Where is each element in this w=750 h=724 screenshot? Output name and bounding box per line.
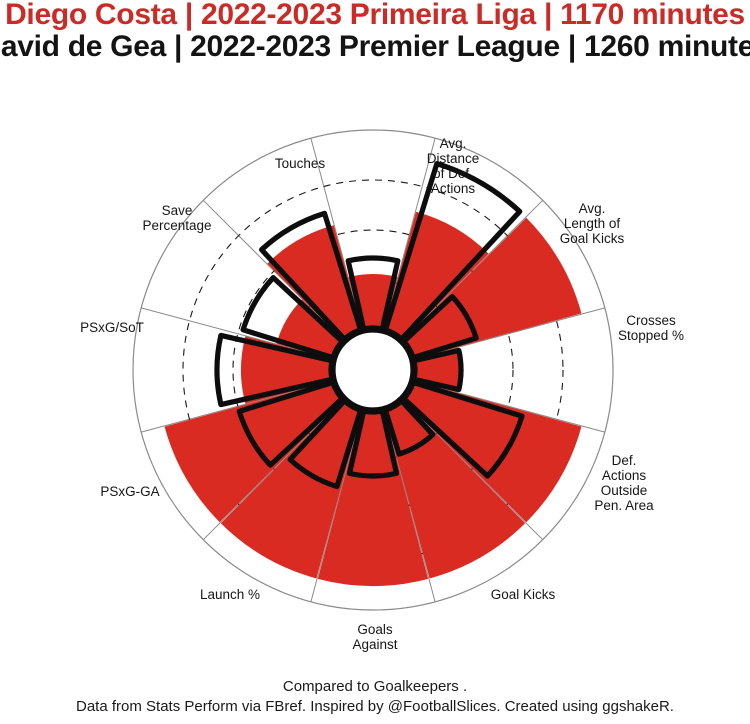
- footer-comparison-line: Compared to Goalkeepers .: [0, 678, 750, 695]
- axis-label-psxg-sot: PSxG/SoT: [80, 320, 144, 335]
- axis-label-launch-pct: Launch %: [200, 587, 260, 602]
- axis-label-goals-against: GoalsAgainst: [352, 622, 397, 652]
- axis-label-avg-distance-of-def-actions: Avg.Distanceof Def.Actions: [427, 136, 480, 196]
- axis-label-avg-length-of-goal-kicks: Avg.Length ofGoal Kicks: [560, 201, 625, 246]
- title-line-player-2: David de Gea | 2022-2023 Premier League …: [0, 30, 750, 64]
- pizza-chart-page: Diego Costa | 2022-2023 Primeira Liga | …: [0, 0, 750, 724]
- axis-label-goal-kicks: Goal Kicks: [491, 587, 556, 602]
- axis-label-def-actions-outside-pen-area: Def.ActionsOutsidePen. Area: [594, 453, 654, 513]
- axis-label-psxg-ga: PSxG-GA: [100, 484, 159, 499]
- axis-label-save-percentage: SavePercentage: [142, 203, 211, 233]
- axis-label-touches: Touches: [275, 156, 326, 171]
- title-line-player-1: Diego Costa | 2022-2023 Primeira Liga | …: [5, 0, 745, 32]
- center-hole: [333, 330, 413, 410]
- axis-label-crosses-stopped-pct: CrossesStopped %: [618, 313, 684, 343]
- footer-credit-line: Data from Stats Perform via FBref. Inspi…: [0, 698, 750, 715]
- pizza-svg: Avg.Distanceof Def.ActionsAvg.Length ofG…: [0, 60, 750, 660]
- chart-title-block: Diego Costa | 2022-2023 Primeira Liga | …: [0, 0, 750, 68]
- radar-chart-area: Avg.Distanceof Def.ActionsAvg.Length ofG…: [0, 60, 750, 660]
